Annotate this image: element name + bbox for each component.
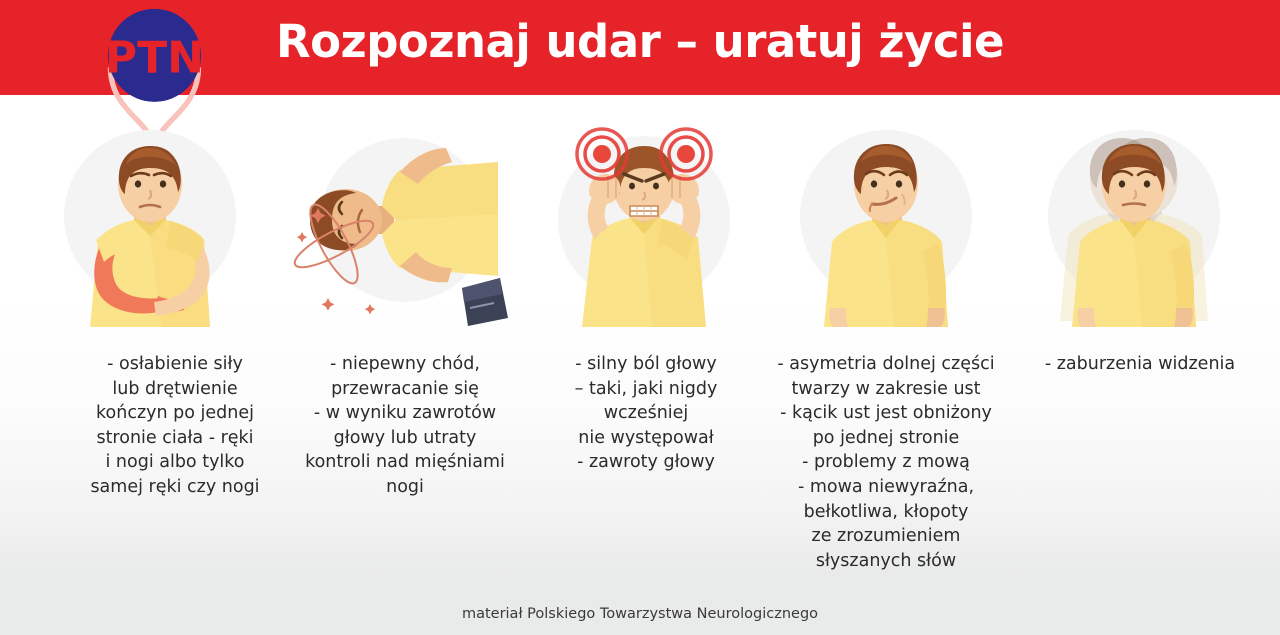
figure-unsteady-gait [272,112,520,327]
figure-vision-disorder [1010,112,1258,327]
page-title: Rozpoznaj udar – uratuj życie [0,15,1280,68]
figure-face-asymmetry [762,112,1010,327]
symptom-column-unsteady-gait: - niepewny chód, przewracanie się - w wy… [290,352,520,500]
header-bar: PTN Rozpoznaj udar – uratuj życie [0,0,1280,95]
illustration-row [0,112,1280,327]
symptom-column-vision: - zaburzenia widzenia [1016,352,1264,377]
symptom-column-face-speech: - asymetria dolnej części twarzy w zakre… [762,352,1010,573]
footer-credit: materiał Polskiego Towarzystwa Neurologi… [0,606,1280,622]
symptom-column-limb-weakness: - osłabienie siły lub drętwienie kończyn… [60,352,290,500]
symptom-column-headache: - silny ból głowy – taki, jaki nigdy wcz… [535,352,757,475]
figure-arm-weakness [26,112,274,327]
stroke-awareness-poster: PTN Rozpoznaj udar – uratuj życie [0,0,1280,635]
symptom-columns: - osłabienie siły lub drętwienie kończyn… [0,352,1280,582]
figure-headache [520,112,768,327]
